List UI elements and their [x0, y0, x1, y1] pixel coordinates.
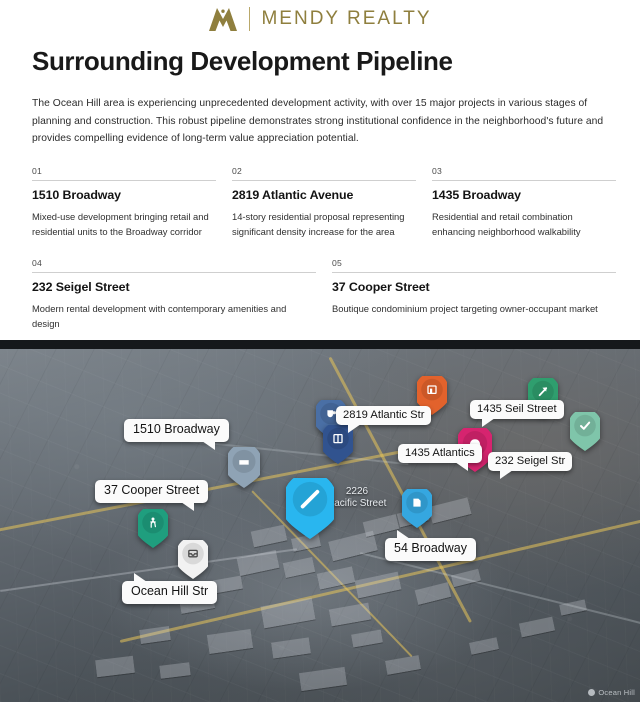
project-grid-row-1: 01 1510 Broadway Mixed-use development b… — [32, 166, 616, 245]
brand-header: MENDY REALTY — [0, 0, 640, 34]
page-title: Surrounding Development Pipeline — [32, 46, 640, 77]
project-number: 02 — [232, 166, 416, 180]
map-label[interactable]: Ocean Hill Str — [122, 581, 217, 604]
copyright-icon — [588, 689, 595, 696]
pin-primary[interactable] — [286, 478, 334, 540]
map-label[interactable]: 1435 Atlantics — [398, 444, 482, 463]
pin-verified[interactable] — [570, 412, 600, 452]
pin-hotel[interactable] — [228, 447, 260, 489]
map-attribution: Ocean Hill — [588, 688, 635, 697]
project-card-02: 02 2819 Atlantic Avenue 14-story residen… — [232, 166, 416, 245]
pin-park[interactable] — [138, 509, 168, 549]
project-title: 37 Cooper Street — [332, 280, 616, 294]
card-divider — [332, 272, 616, 273]
intro-paragraph: The Ocean Hill area is experiencing unpr… — [32, 95, 608, 148]
map-label[interactable]: 54 Broadway — [385, 538, 476, 561]
project-card-05: 05 37 Cooper Street Boutique condominium… — [332, 258, 616, 337]
brand-divider — [249, 7, 250, 31]
project-number: 01 — [32, 166, 216, 180]
card-divider — [232, 180, 416, 181]
project-number: 05 — [332, 258, 616, 272]
project-description: Modern rental development with contempor… — [32, 301, 316, 331]
project-description: 14-story residential proposal representi… — [232, 209, 416, 239]
project-title: 1510 Broadway — [32, 188, 216, 202]
pin-mail[interactable] — [178, 540, 208, 580]
project-description: Residential and retail combination enhan… — [432, 209, 616, 239]
card-divider — [32, 180, 216, 181]
project-card-04: 04 232 Seigel Street Modern rental devel… — [32, 258, 316, 337]
project-title: 2819 Atlantic Avenue — [232, 188, 416, 202]
map-label[interactable]: 2819 Atlantic Str — [336, 406, 431, 425]
project-number: 04 — [32, 258, 316, 272]
card-divider — [32, 272, 316, 273]
project-card-03: 03 1435 Broadway Residential and retail … — [432, 166, 616, 245]
brand-name: MENDY REALTY — [261, 8, 431, 30]
project-title: 232 Seigel Street — [32, 280, 316, 294]
mendy-m-monogram-icon — [208, 6, 238, 32]
pin-bank[interactable] — [402, 489, 432, 529]
map-label[interactable]: 1510 Broadway — [124, 419, 229, 442]
map-label[interactable]: 1435 Seil Street — [470, 400, 564, 419]
map-label[interactable]: 37 Cooper Street — [95, 480, 208, 503]
project-description: Mixed-use development bringing retail an… — [32, 209, 216, 239]
aerial-map[interactable]: 2226Pacific Street — [0, 340, 640, 702]
card-divider — [432, 180, 616, 181]
map-attribution-text: Ocean Hill — [598, 688, 635, 697]
project-card-01: 01 1510 Broadway Mixed-use development b… — [32, 166, 216, 245]
project-grid-row-2: 04 232 Seigel Street Modern rental devel… — [32, 258, 616, 337]
project-title: 1435 Broadway — [432, 188, 616, 202]
project-description: Boutique condominium project targeting o… — [332, 301, 616, 316]
page-root: MENDY REALTY Surrounding Development Pip… — [0, 0, 640, 702]
project-number: 03 — [432, 166, 616, 180]
map-top-edge — [0, 340, 640, 349]
map-label[interactable]: 232 Seigel Str — [488, 452, 572, 471]
